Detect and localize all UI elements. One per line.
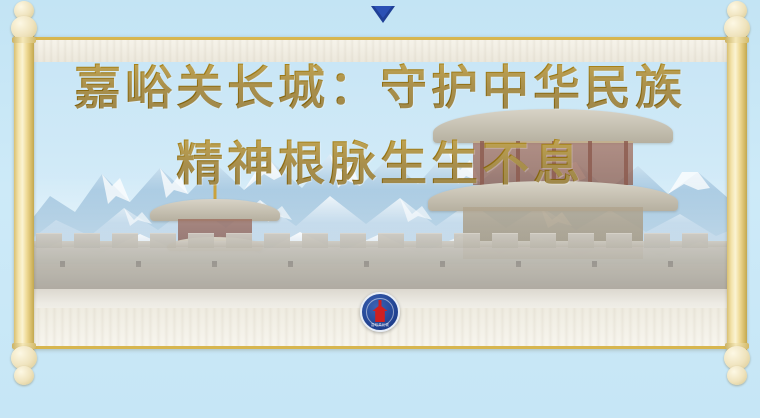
- merlon: [454, 233, 480, 248]
- pagoda-spire-small: [214, 179, 217, 199]
- merlon: [530, 233, 556, 248]
- merlon: [302, 233, 328, 248]
- merlon: [340, 233, 366, 248]
- wall-window: [668, 261, 673, 267]
- pagoda-pillar-5: [624, 141, 628, 185]
- merlon: [112, 233, 138, 248]
- merlon: [74, 233, 100, 248]
- pagoda-roof-upper: [433, 109, 673, 143]
- merlon: [378, 233, 404, 248]
- wall-window: [288, 261, 293, 267]
- fortress-wall: [30, 247, 730, 289]
- pagoda-pillar-2: [516, 141, 520, 185]
- merlon: [36, 233, 62, 248]
- scroll-knob-bottom-small-left: [14, 366, 34, 385]
- merlon: [264, 233, 290, 248]
- chevron-down-icon[interactable]: [371, 6, 395, 23]
- jiayuguan-photo: [30, 62, 730, 314]
- pagoda-roof-small: [150, 199, 280, 221]
- merlon: [644, 233, 670, 248]
- scroll-knob-bottom-small-right: [727, 366, 747, 385]
- badge-caption: 嘉峪关长城: [362, 322, 398, 327]
- scroll-rod-right: [727, 31, 747, 355]
- wall-window: [212, 261, 217, 267]
- merlon: [416, 233, 442, 248]
- scroll-banner-page: 嘉峪关长城：守护中华民族 精神根脉生生不息 嘉峪关长城: [0, 0, 760, 418]
- merlon: [492, 233, 518, 248]
- wall-window: [60, 261, 65, 267]
- organization-badge[interactable]: 嘉峪关长城: [360, 292, 400, 332]
- wall-window: [516, 261, 521, 267]
- pagoda-pillar-3: [552, 141, 556, 185]
- wall-window: [592, 261, 597, 267]
- wall-window: [440, 261, 445, 267]
- merlon: [226, 233, 252, 248]
- merlon: [568, 233, 594, 248]
- merlon: [682, 233, 708, 248]
- merlon: [150, 233, 176, 248]
- merlon: [606, 233, 632, 248]
- pagoda-pillar-4: [588, 141, 592, 185]
- wall-window: [364, 261, 369, 267]
- scroll-collar-top-left: [12, 37, 36, 43]
- scroll-paper-top: [30, 40, 730, 62]
- pagoda-pillar-1: [480, 141, 484, 185]
- merlon: [188, 233, 214, 248]
- wall-window: [136, 261, 141, 267]
- scroll-rod-left: [14, 31, 34, 355]
- scroll-collar-top-right: [725, 37, 749, 43]
